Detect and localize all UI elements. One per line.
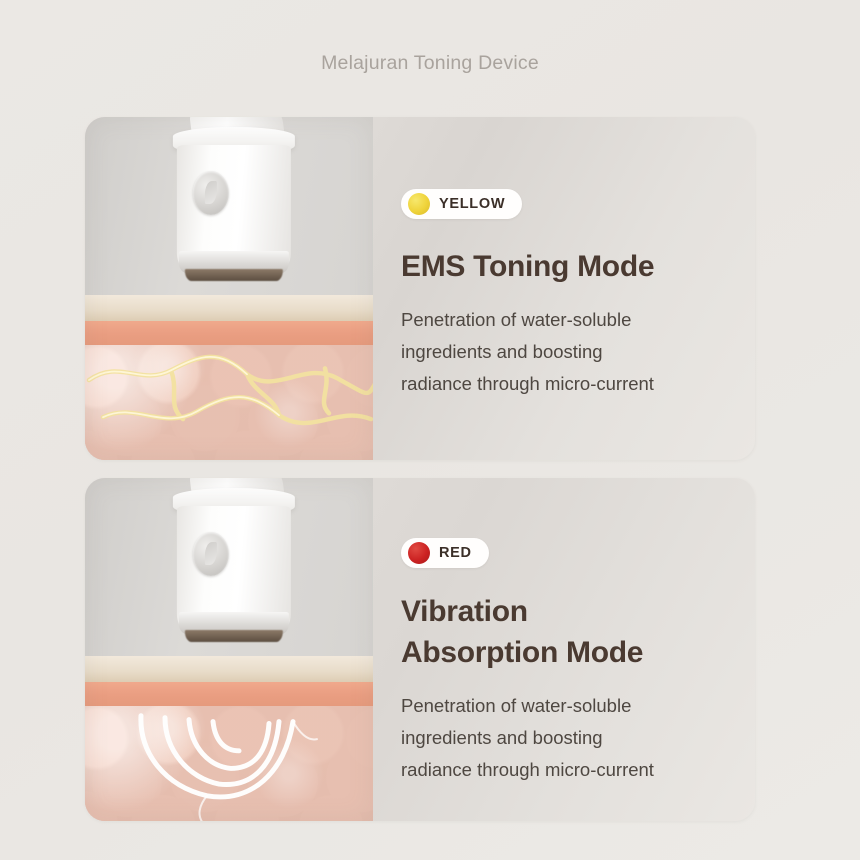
illustration-ems-toning: [85, 117, 373, 460]
toning-device-graphic: [173, 117, 295, 291]
mode-badge-label: RED: [439, 545, 472, 561]
skin-layer-epidermis: [85, 295, 373, 321]
mode-description: Penetration of water-soluble ingredients…: [401, 690, 755, 786]
mode-badge-label: YELLOW: [439, 196, 505, 212]
device-power-button-icon: [193, 532, 229, 576]
mode-heading: EMS Toning Mode: [401, 246, 755, 287]
mode-badge-yellow[interactable]: YELLOW: [401, 189, 522, 219]
toning-device-graphic: [173, 478, 295, 652]
mode-badge-red[interactable]: RED: [401, 538, 489, 568]
vibration-wave-overlay: [85, 702, 373, 821]
skin-layer-epidermis: [85, 656, 373, 682]
mode-description: Penetration of water-soluble ingredients…: [401, 304, 755, 400]
device-contact-tip: [185, 630, 283, 642]
mode-card-vibration-absorption[interactable]: RED Vibration Absorption Mode Penetratio…: [85, 478, 755, 821]
device-contact-tip: [185, 269, 283, 281]
mode-text-panel-vibration: RED Vibration Absorption Mode Penetratio…: [373, 478, 755, 821]
micro-current-energy-overlay: [85, 341, 373, 460]
page-title: Melajuran Toning Device: [0, 52, 860, 75]
red-indicator-dot-icon: [408, 542, 430, 564]
yellow-indicator-dot-icon: [408, 193, 430, 215]
illustration-vibration-absorption: [85, 478, 373, 821]
mode-card-ems-toning[interactable]: YELLOW EMS Toning Mode Penetration of wa…: [85, 117, 755, 460]
mode-heading: Vibration Absorption Mode: [401, 591, 755, 674]
device-power-button-icon: [193, 171, 229, 215]
mode-text-panel-ems: YELLOW EMS Toning Mode Penetration of wa…: [373, 117, 755, 460]
